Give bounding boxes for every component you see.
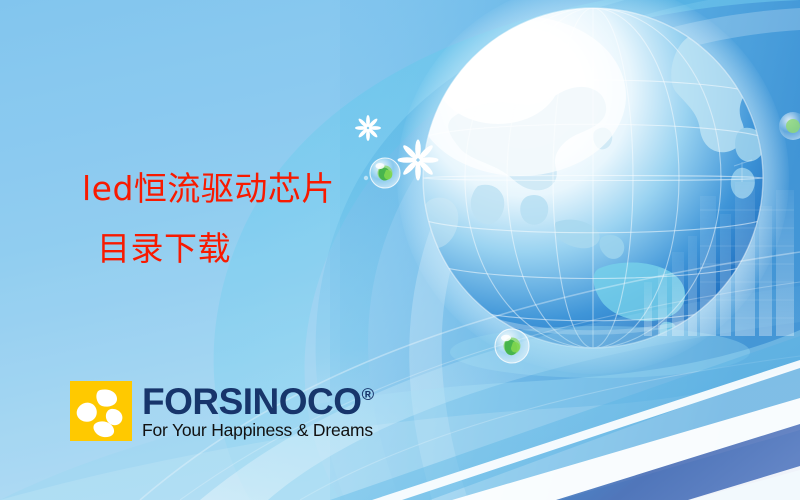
wordmark: FORSINOCO ® bbox=[142, 384, 374, 419]
headline-line-2: 目录下载 bbox=[97, 232, 231, 265]
company-logo: FORSINOCO ® For Your Happiness & Dreams bbox=[70, 381, 374, 441]
logo-text-block: FORSINOCO ® For Your Happiness & Dreams bbox=[142, 381, 374, 441]
petal-mark-icon bbox=[70, 381, 132, 441]
bubble-with-globe-lower bbox=[495, 329, 529, 363]
bubble-with-globe-upper bbox=[370, 158, 400, 188]
headline-line-1: led恒流驱动芯片 bbox=[82, 172, 335, 205]
tagline: For Your Happiness & Dreams bbox=[142, 420, 374, 441]
forsinoco-petal-mark bbox=[70, 381, 132, 441]
registered-trademark-icon: ® bbox=[362, 384, 374, 403]
wordmark-text: FORSINOCO bbox=[142, 384, 362, 419]
flower-burst-tiny bbox=[364, 176, 368, 180]
marketing-banner: led恒流驱动芯片 目录下载 FORSINOCO ® For Your Happ… bbox=[0, 0, 800, 500]
